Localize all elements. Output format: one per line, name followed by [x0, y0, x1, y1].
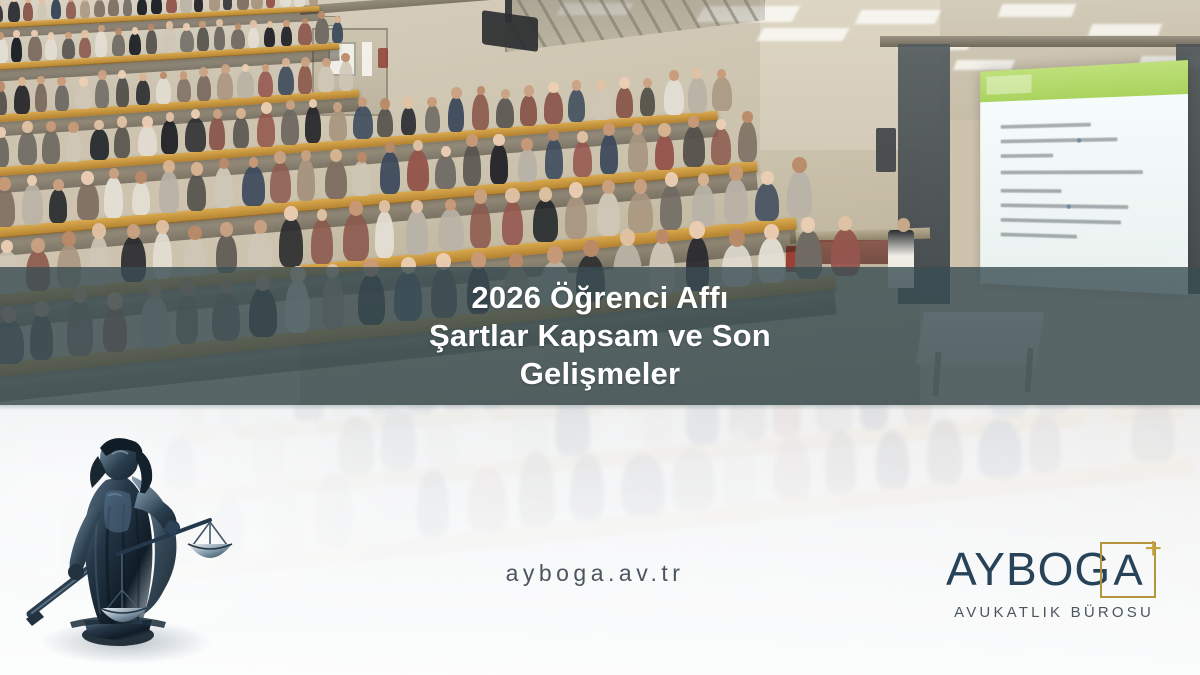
student-head [267, 21, 273, 28]
student-head [669, 70, 679, 81]
student-silhouette [8, 1, 19, 22]
student-silhouette [80, 0, 90, 17]
student-head [301, 150, 311, 161]
student-silhouette [242, 166, 265, 206]
student-head [505, 188, 519, 204]
student-head [0, 0, 1, 6]
student-silhouette [711, 128, 732, 165]
student-head [403, 97, 414, 109]
student-head [81, 30, 88, 38]
student-silhouette [248, 232, 273, 270]
student-head [357, 152, 367, 164]
logo-mark-letter: A [1113, 549, 1142, 593]
student-head [282, 58, 290, 67]
student-head [380, 98, 391, 110]
student-silhouette [11, 37, 22, 62]
student-head [81, 171, 93, 185]
student-silhouette [787, 171, 812, 218]
student-silhouette [42, 130, 61, 164]
student-head [716, 119, 726, 130]
student-silhouette [75, 85, 92, 109]
student-silhouette [592, 89, 611, 120]
student-silhouette [0, 5, 3, 23]
student-silhouette [137, 0, 147, 15]
student-head [221, 64, 230, 74]
student-silhouette [248, 27, 260, 48]
student-silhouette [177, 78, 191, 102]
student-silhouette [217, 72, 233, 99]
student-silhouette [180, 0, 192, 13]
website-url[interactable]: ayboga.av.tr [430, 560, 760, 587]
student-head [254, 220, 266, 234]
student-head [46, 121, 56, 131]
student-head [220, 222, 233, 237]
student-head [451, 87, 462, 99]
title-overlay-band: 2026 Öğrenci Affı Şartlar Kapsam ve Son … [0, 267, 1200, 405]
student-head [199, 67, 208, 77]
student-silhouette [258, 71, 274, 97]
student-silhouette [270, 162, 291, 204]
student-head [11, 0, 16, 2]
student-silhouette [194, 0, 203, 12]
student-head [18, 77, 26, 86]
student-silhouette [353, 106, 373, 139]
student-silhouette [151, 0, 161, 14]
logo-wordmark-row: AYBOG A + [946, 540, 1156, 598]
student-head [620, 229, 635, 246]
student-silhouette [116, 77, 129, 106]
student-head [466, 134, 478, 147]
student-silhouette [114, 126, 131, 158]
student-head [37, 76, 44, 84]
student-head [548, 82, 558, 93]
student-silhouette [339, 61, 353, 91]
student-silhouette [755, 183, 779, 221]
student-silhouette [129, 33, 140, 55]
student-head [166, 112, 175, 121]
student-silhouette [438, 209, 464, 252]
student-head [249, 157, 259, 168]
band-bottom-edge [0, 405, 1200, 410]
student-silhouette [22, 184, 44, 225]
student-head [792, 157, 807, 173]
student-head [692, 68, 702, 79]
student-silhouette [628, 192, 652, 234]
student-head [341, 53, 350, 63]
student-silhouette [55, 85, 69, 111]
student-head [0, 127, 6, 137]
student-silhouette [237, 71, 253, 98]
student-silhouette [279, 218, 302, 266]
student-head [98, 25, 105, 32]
student-silhouette [66, 131, 81, 161]
student-head [742, 111, 752, 123]
student-silhouette [77, 182, 99, 220]
student-silhouette [23, 2, 34, 21]
student-silhouette [95, 79, 109, 108]
student-head [283, 20, 289, 27]
student-head [39, 0, 45, 4]
student-head [65, 32, 72, 40]
student-head [117, 116, 128, 128]
student-silhouette [332, 22, 343, 43]
student-head [98, 70, 107, 80]
student-head [656, 229, 669, 244]
student-silhouette [640, 87, 656, 117]
logo-wordmark: AYBOG [946, 546, 1111, 592]
student-head [235, 23, 241, 29]
student-silhouette [281, 26, 291, 46]
student-silhouette [185, 118, 205, 153]
ayboga-logo[interactable]: AYBOG A + AVUKATLIK BÜROSU [946, 540, 1156, 640]
student-head [191, 162, 203, 175]
student-head [284, 206, 297, 221]
student-head [334, 16, 341, 24]
student-silhouette [66, 1, 77, 19]
student-silhouette [159, 171, 179, 213]
student-head [764, 224, 779, 240]
student-silhouette [197, 75, 211, 101]
student-head [135, 171, 147, 184]
student-silhouette [311, 219, 333, 264]
title-line-1: 2026 Öğrenci Affı [429, 279, 771, 317]
student-head [1, 240, 13, 253]
student-head [493, 134, 504, 146]
student-silhouette [94, 0, 105, 17]
student-silhouette [266, 0, 275, 8]
student-silhouette [724, 179, 748, 224]
student-head [322, 58, 331, 68]
student-head [53, 179, 64, 191]
student-head [48, 32, 55, 39]
student-silhouette [518, 149, 537, 182]
student-silhouette [329, 110, 347, 141]
student-head [577, 131, 588, 143]
student-silhouette [472, 94, 489, 130]
student-silhouette [104, 177, 123, 217]
student-silhouette [132, 182, 151, 216]
page-title: 2026 Öğrenci Affı Şartlar Kapsam ve Son … [429, 279, 771, 392]
student-head [521, 138, 532, 150]
student-silhouette [0, 136, 9, 167]
student-silhouette [264, 27, 275, 47]
student-head [524, 85, 535, 97]
student-silhouette [180, 30, 194, 52]
logo-a-plus-mark: A + [1100, 542, 1156, 598]
student-silhouette [233, 117, 249, 148]
student-silhouette [406, 210, 427, 254]
student-silhouette [490, 144, 508, 184]
student-silhouette [435, 155, 456, 189]
student-silhouette [79, 37, 92, 58]
student-silhouette [49, 189, 67, 222]
student-head [333, 102, 342, 112]
student-silhouette [616, 87, 633, 118]
banner-root: 2026 Öğrenci Affı Şartlar Kapsam ve Son … [0, 0, 1200, 675]
student-head [79, 77, 87, 86]
logo-plus-icon: + [1144, 534, 1162, 564]
student-head [572, 80, 581, 90]
student-silhouette [688, 77, 707, 113]
student-silhouette [163, 28, 176, 52]
student-silhouette [156, 78, 171, 104]
student-silhouette [294, 0, 305, 7]
student-silhouette [257, 112, 275, 146]
student-head [142, 116, 153, 128]
student-silhouette [683, 126, 705, 168]
student-silhouette [18, 131, 37, 166]
student-silhouette [197, 27, 209, 51]
student-head [317, 209, 328, 221]
student-silhouette [209, 117, 225, 150]
student-silhouette [214, 26, 225, 50]
student-silhouette [448, 97, 464, 132]
student-silhouette [407, 150, 429, 192]
student-silhouette [545, 139, 562, 179]
student-silhouette [664, 79, 684, 114]
student-silhouette [35, 83, 48, 112]
student-silhouette [309, 0, 319, 6]
student-silhouette [318, 66, 334, 93]
student-head [411, 200, 423, 213]
student-silhouette [463, 144, 482, 186]
student-head [82, 0, 88, 2]
student-head [250, 20, 257, 27]
student-silhouette [470, 202, 491, 248]
student-silhouette [62, 38, 75, 59]
student-silhouette [738, 121, 757, 162]
student-silhouette [0, 90, 7, 115]
student-silhouette [146, 30, 156, 54]
student-silhouette [315, 18, 329, 44]
student-silhouette [108, 0, 118, 16]
student-silhouette [187, 174, 206, 211]
student-head [665, 172, 678, 187]
student-silhouette [352, 161, 371, 196]
student-head [31, 238, 44, 253]
student-head [219, 158, 229, 169]
student-head [602, 180, 615, 194]
student-silhouette [214, 167, 233, 208]
student-silhouette [502, 201, 524, 246]
student-silhouette [0, 38, 8, 63]
student-head [132, 27, 139, 34]
student-head [22, 121, 32, 132]
student-silhouette [123, 0, 132, 16]
student-head [94, 120, 103, 130]
student-silhouette [112, 34, 125, 56]
student-silhouette [533, 199, 557, 242]
student-silhouette [496, 98, 514, 128]
student-head [761, 171, 774, 185]
student-silhouette [138, 126, 158, 156]
student-silhouette [597, 192, 620, 237]
student-silhouette [298, 65, 312, 94]
student-head [302, 18, 308, 25]
student-head [188, 226, 202, 241]
student-silhouette [380, 152, 400, 194]
student-head [0, 177, 11, 191]
student-silhouette [297, 159, 314, 201]
student-silhouette [231, 29, 245, 49]
student-silhouette [305, 106, 321, 142]
student-silhouette [565, 195, 587, 239]
student-silhouette [568, 89, 585, 122]
student-head [213, 109, 222, 119]
student-head [68, 122, 78, 133]
student-head [441, 146, 451, 157]
student-head [109, 168, 119, 179]
student-head [115, 28, 122, 35]
student-head [583, 240, 599, 257]
student-head [569, 182, 583, 198]
student-head [330, 149, 342, 162]
student-head [349, 201, 363, 216]
student-silhouette [0, 188, 15, 227]
student-silhouette [251, 0, 262, 9]
student-silhouette [298, 23, 311, 44]
title-line-2: Şartlar Kapsam ve Son [429, 317, 771, 355]
student-head [216, 19, 223, 27]
student-head [127, 224, 140, 238]
student-silhouette [573, 141, 593, 177]
student-head [619, 77, 630, 89]
student-silhouette [161, 120, 178, 154]
student-silhouette [90, 129, 109, 160]
student-head [477, 86, 486, 95]
student-head [501, 89, 510, 99]
student-silhouette [209, 0, 220, 11]
title-line-3: Gelişmeler [429, 355, 771, 393]
student-silhouette [343, 213, 369, 260]
student-head [688, 116, 699, 128]
student-head [166, 21, 174, 30]
student-head [118, 70, 126, 79]
student-silhouette [544, 91, 563, 124]
student-silhouette [223, 0, 232, 10]
student-silhouette [655, 135, 673, 170]
student-silhouette [280, 0, 291, 7]
student-head [309, 99, 317, 108]
student-silhouette [14, 85, 30, 114]
student-head [801, 217, 815, 233]
student-silhouette [377, 108, 394, 137]
student-head [427, 97, 437, 108]
student-silhouette [37, 3, 47, 20]
student-silhouette [95, 31, 107, 57]
student-head [301, 57, 310, 67]
student-head [262, 64, 269, 72]
student-silhouette [660, 185, 682, 230]
student-head [286, 100, 295, 110]
lady-justice-statue-icon [14, 414, 244, 666]
student-silhouette [520, 95, 537, 126]
student-silhouette [425, 105, 440, 133]
student-head [261, 102, 272, 114]
student-head [539, 187, 552, 202]
student-silhouette [237, 0, 249, 10]
student-head [180, 71, 188, 79]
student-silhouette [401, 107, 416, 136]
student-head [729, 165, 743, 181]
student-head [0, 81, 5, 91]
student-silhouette [51, 0, 61, 19]
student-silhouette [278, 66, 294, 96]
student-head [643, 78, 653, 89]
student-silhouette [628, 133, 648, 172]
student-silhouette [45, 38, 57, 60]
student-silhouette [136, 80, 150, 105]
student-silhouette [28, 36, 42, 61]
student-silhouette [166, 0, 177, 13]
logo-tagline: AVUKATLIK BÜROSU [946, 604, 1156, 621]
student-silhouette [712, 77, 732, 110]
